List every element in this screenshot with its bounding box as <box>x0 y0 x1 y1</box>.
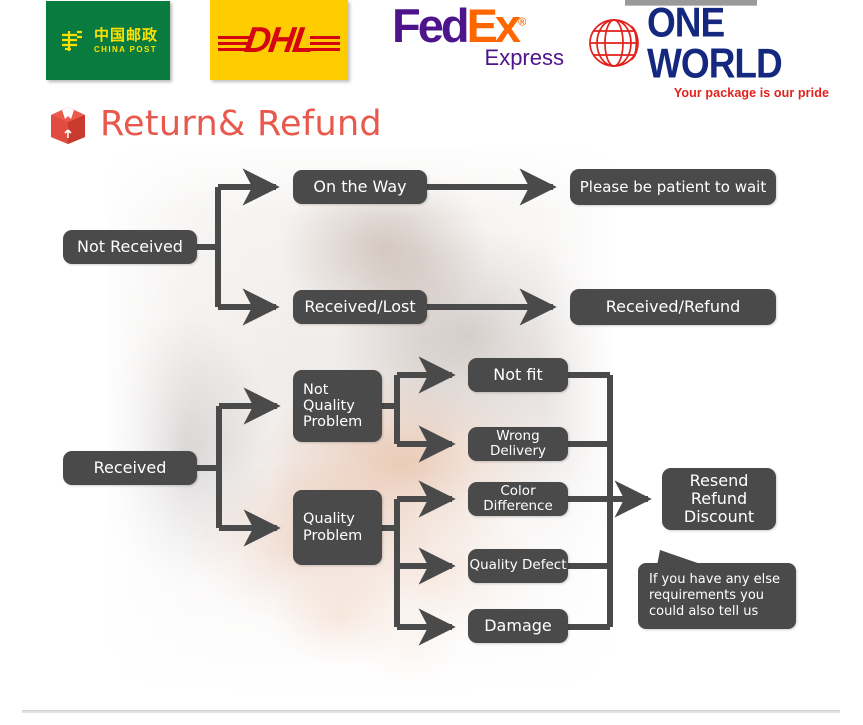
node-label-line-1: Not <box>303 382 328 398</box>
fedex-registered-mark: ® <box>518 16 526 28</box>
node-label: Not Received <box>77 238 183 256</box>
node-label: Received/Lost <box>304 298 415 316</box>
callout-line-2: requirements you <box>649 588 786 604</box>
node-not-fit[interactable]: Not fit <box>468 358 568 392</box>
node-label: Color Difference <box>468 484 568 514</box>
courier-logo-strip: 中国邮政 CHINA POST DHL FedEx® Express <box>0 0 863 92</box>
callout-line-3: could also tell us <box>649 604 786 620</box>
one-world-globe-icon <box>585 15 645 71</box>
node-on-the-way[interactable]: On the Way <box>293 170 427 204</box>
node-resend-refund-discount[interactable]: Resend Refund Discount <box>662 468 776 530</box>
node-quality-problem[interactable]: Quality Problem <box>293 490 382 565</box>
node-received[interactable]: Received <box>63 451 197 485</box>
extra-requirements-callout: If you have any else requirements you co… <box>638 563 796 629</box>
return-refund-flowchart: Not Received On the Way Received/Lost Pl… <box>0 150 863 710</box>
node-label: Wrong Delivery <box>468 429 568 459</box>
node-label: Not fit <box>493 366 542 384</box>
dhl-wordmark: DHL <box>242 19 316 61</box>
node-label-line-2: Refund <box>691 490 747 508</box>
one-world-wordmark: ONE WORLD <box>647 2 833 85</box>
return-refund-banner: 中国邮政 CHINA POST DHL FedEx® Express <box>0 0 863 725</box>
node-label-line-1: Quality <box>303 511 355 527</box>
node-label-line-3: Problem <box>303 414 362 430</box>
node-label: Please be patient to wait <box>580 179 766 196</box>
china-post-logo: 中国邮政 CHINA POST <box>46 1 170 80</box>
dhl-logo: DHL <box>210 0 348 80</box>
node-damage[interactable]: Damage <box>468 609 568 643</box>
package-box-icon <box>48 103 88 145</box>
china-post-cn-text: 中国邮政 <box>94 28 158 43</box>
node-label: Quality Defect <box>469 558 566 573</box>
node-label: Received <box>94 459 167 477</box>
node-label-line-1: Resend <box>690 472 749 490</box>
node-label: Damage <box>484 617 552 635</box>
callout-line-1: If you have any else <box>649 572 786 588</box>
node-label-line-3: Discount <box>684 508 754 526</box>
section-title: Return& Refund <box>48 103 382 145</box>
node-label: Received/Refund <box>606 298 741 316</box>
node-please-be-patient-to-wait[interactable]: Please be patient to wait <box>570 169 776 205</box>
one-world-tagline: Your package is our pride <box>585 86 833 100</box>
node-received-lost[interactable]: Received/Lost <box>293 290 427 324</box>
node-not-quality-problem[interactable]: Not Quality Problem <box>293 370 382 442</box>
node-received-refund[interactable]: Received/Refund <box>570 289 776 325</box>
page-title: Return& Refund <box>100 104 382 144</box>
node-quality-defect[interactable]: Quality Defect <box>468 549 568 583</box>
fedex-fed-text: Fed <box>392 0 467 52</box>
node-color-difference[interactable]: Color Difference <box>468 482 568 516</box>
node-label-line-2: Quality <box>303 398 355 414</box>
bottom-divider <box>22 710 840 713</box>
china-post-mark-icon <box>58 26 88 56</box>
china-post-en-text: CHINA POST <box>94 46 157 54</box>
fedex-logo: FedEx® Express <box>392 4 578 88</box>
node-wrong-delivery[interactable]: Wrong Delivery <box>468 427 568 461</box>
node-label: On the Way <box>313 178 406 196</box>
node-not-received[interactable]: Not Received <box>63 230 197 264</box>
one-world-logo: ONE WORLD Your package is our pride <box>585 6 833 86</box>
node-label-line-2: Problem <box>303 528 362 544</box>
